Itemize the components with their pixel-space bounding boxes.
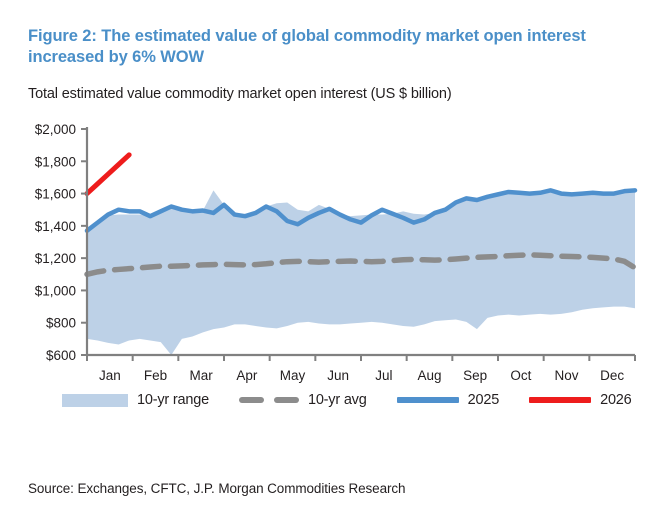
x-tick-label: Sep xyxy=(463,368,487,383)
legend-item-2025[interactable]: 2025 xyxy=(397,392,529,408)
figure-title: Figure 2: The estimated value of global … xyxy=(28,26,628,69)
legend-swatch-line-blue-icon xyxy=(397,397,459,403)
legend-item-2026[interactable]: 2026 xyxy=(529,392,661,408)
legend-swatch-dashed-line-icon xyxy=(239,394,299,407)
range-band-area xyxy=(87,190,635,355)
y-tick-label: $1,000 xyxy=(35,283,76,298)
legend-swatch-area-icon xyxy=(62,394,128,407)
legend-item-10yr-range[interactable]: 10-yr range xyxy=(62,392,239,408)
y-tick-label: $800 xyxy=(46,316,76,331)
y-tick-label: $2,000 xyxy=(35,122,76,137)
x-tick-label: Oct xyxy=(510,368,531,383)
x-tick-label: Apr xyxy=(236,368,258,383)
y-tick-label: $600 xyxy=(46,348,76,363)
y-tick-label: $1,200 xyxy=(35,251,76,266)
x-tick-label: Jun xyxy=(327,368,349,383)
chart-legend: 10-yr range 10-yr avg 2025 2026 xyxy=(0,392,672,418)
source-note: Source: Exchanges, CFTC, J.P. Morgan Com… xyxy=(28,481,405,496)
x-tick-label: Jan xyxy=(99,368,121,383)
commodity-open-interest-chart: $600$800$1,000$1,200$1,400$1,600$1,800$2… xyxy=(0,112,672,412)
series-2026-line xyxy=(87,155,129,194)
range-band-path xyxy=(87,190,635,355)
legend-label-10yr-avg: 10-yr avg xyxy=(308,392,367,408)
x-tick-label: Feb xyxy=(144,368,167,383)
legend-label-2025: 2025 xyxy=(468,392,499,408)
x-tick-label: Jul xyxy=(375,368,392,383)
figure-subtitle: Total estimated value commodity market o… xyxy=(28,86,648,102)
legend-label-10yr-range: 10-yr range xyxy=(137,392,209,408)
x-tick-label: Mar xyxy=(190,368,214,383)
x-tick-label: Nov xyxy=(554,368,578,383)
x-tick-label: Dec xyxy=(600,368,624,383)
legend-label-2026: 2026 xyxy=(600,392,631,408)
legend-swatch-line-red-icon xyxy=(529,397,591,403)
chart-container: $600$800$1,000$1,200$1,400$1,600$1,800$2… xyxy=(0,112,672,412)
y-tick-label: $1,600 xyxy=(35,187,76,202)
y-tick-label: $1,800 xyxy=(35,154,76,169)
x-tick-label: May xyxy=(280,368,306,383)
y-tick-label: $1,400 xyxy=(35,219,76,234)
legend-item-10yr-avg[interactable]: 10-yr avg xyxy=(239,392,397,408)
x-tick-label: Aug xyxy=(417,368,441,383)
